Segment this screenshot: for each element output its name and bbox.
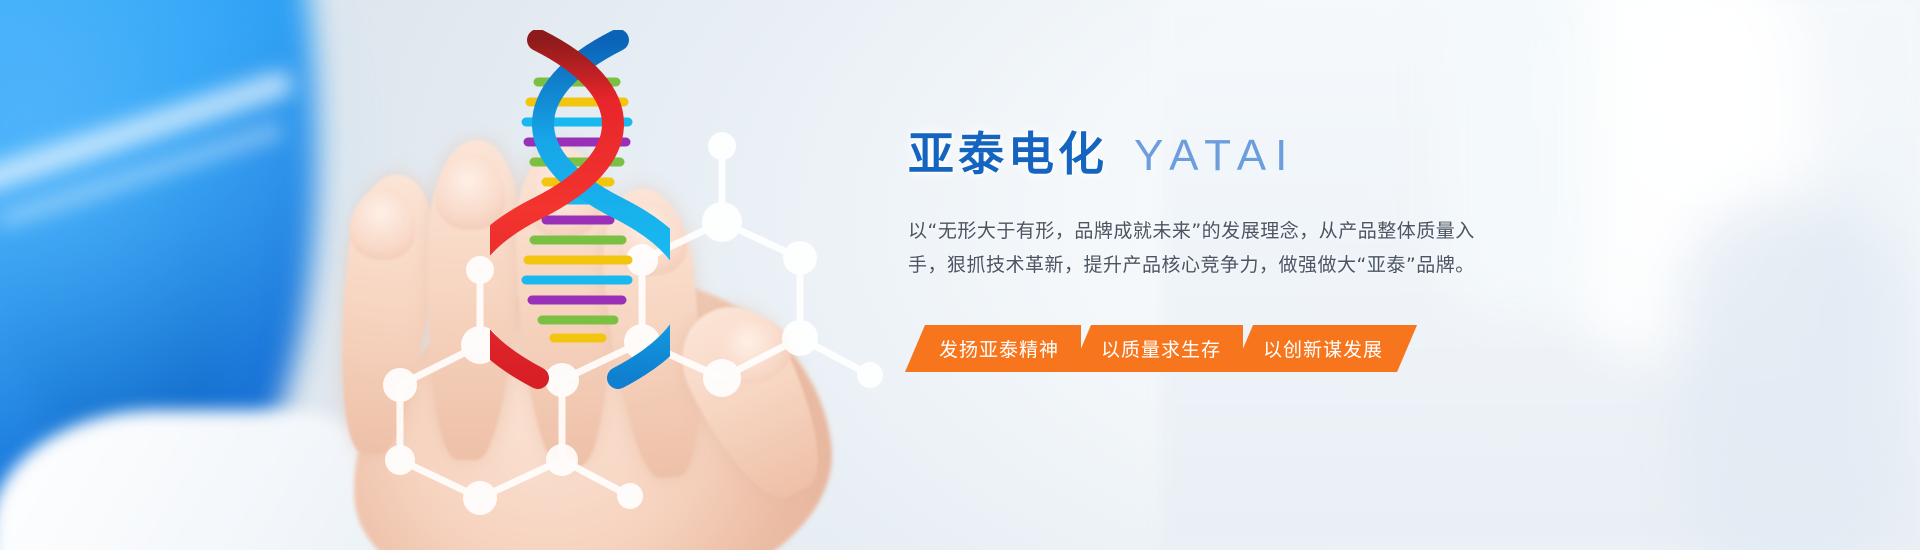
slogan-ribbon: 发扬亚泰精神 以质量求生存 以创新谋发展	[905, 325, 1417, 372]
slogan-item-1: 发扬亚泰精神	[905, 325, 1081, 372]
description-line-2: 手，狠抓技术革新，提升产品核心竞争力，做强做大“亚泰”品牌。	[908, 248, 1540, 282]
hero-banner: 亚泰电化 YATAI 以“无形大于有形，品牌成就未来”的发展理念，从产品整体质量…	[0, 0, 1920, 550]
description-line-1: 以“无形大于有形，品牌成就未来”的发展理念，从产品整体质量入	[908, 214, 1540, 248]
slogan-item-3: 以创新谋发展	[1233, 325, 1417, 372]
dna-double-helix-icon	[490, 30, 670, 390]
slogan-item-2: 以质量求生存	[1071, 325, 1243, 372]
brand-name-en: YATAI	[1134, 131, 1296, 181]
brand-name-cn: 亚泰电化	[908, 118, 1108, 184]
lab-blur-shape	[1680, 200, 1900, 550]
brand-title-row: 亚泰电化 YATAI	[908, 118, 1548, 184]
brand-description: 以“无形大于有形，品牌成就未来”的发展理念，从产品整体质量入 手，狠抓技术革新，…	[908, 214, 1540, 282]
banner-text-block: 亚泰电化 YATAI 以“无形大于有形，品牌成就未来”的发展理念，从产品整体质量…	[908, 118, 1548, 282]
